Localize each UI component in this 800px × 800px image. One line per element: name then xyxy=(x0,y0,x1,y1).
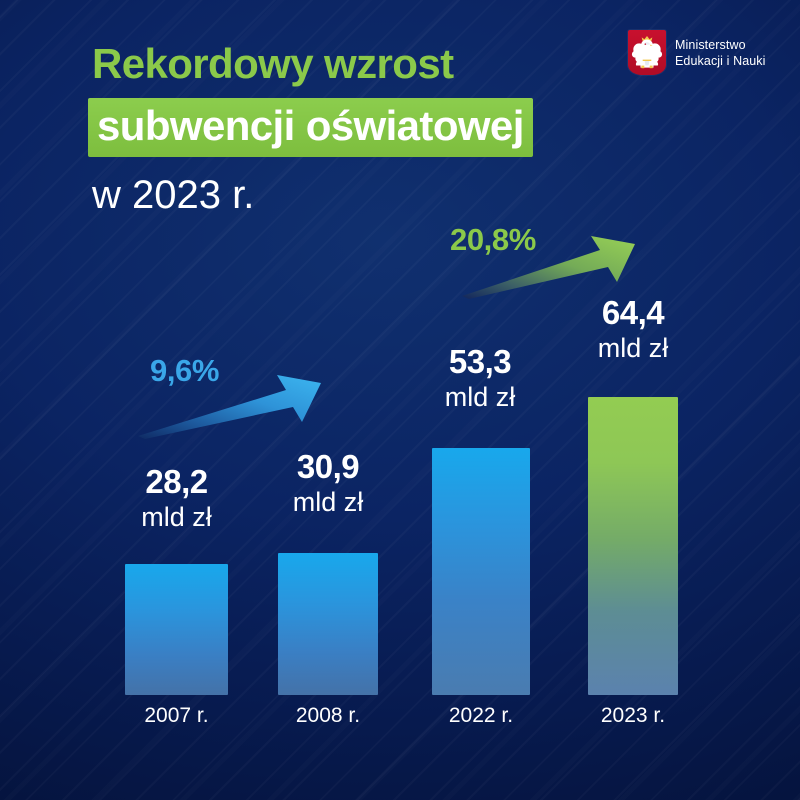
bar-2022 xyxy=(432,448,530,695)
bar-2023 xyxy=(588,397,678,695)
x-axis-label-2008: 2008 r. xyxy=(268,703,388,729)
bar-value-label-2023: 64,4 mld zł xyxy=(583,294,683,365)
bar-unit-2022: mld zł xyxy=(430,381,530,414)
bar-2008 xyxy=(278,553,378,695)
bar-value-label-2007: 28,2 mld zł xyxy=(125,463,228,534)
bar-unit-2023: mld zł xyxy=(583,332,683,365)
x-axis-label-2007: 2007 r. xyxy=(115,703,238,729)
growth-arrow-green-icon xyxy=(460,232,650,300)
x-axis-label-2022: 2022 r. xyxy=(421,703,541,729)
bar-unit-2008: mld zł xyxy=(278,486,378,519)
bar-value-2022: 53,3 xyxy=(430,343,530,381)
bar-chart: 28,2 mld zł 2007 r. 30,9 mld zł 2008 r. … xyxy=(0,0,800,800)
bar-2007 xyxy=(125,564,228,695)
bar-value-2007: 28,2 xyxy=(125,463,228,501)
bar-value-label-2008: 30,9 mld zł xyxy=(278,448,378,519)
growth-arrow-blue-icon xyxy=(136,370,336,440)
x-axis-label-2023: 2023 r. xyxy=(573,703,693,729)
infographic-canvas: Ministerstwo Edukacji i Nauki Rekordowy … xyxy=(0,0,800,800)
bar-unit-2007: mld zł xyxy=(125,501,228,534)
bar-value-2008: 30,9 xyxy=(278,448,378,486)
bar-value-label-2022: 53,3 mld zł xyxy=(430,343,530,414)
